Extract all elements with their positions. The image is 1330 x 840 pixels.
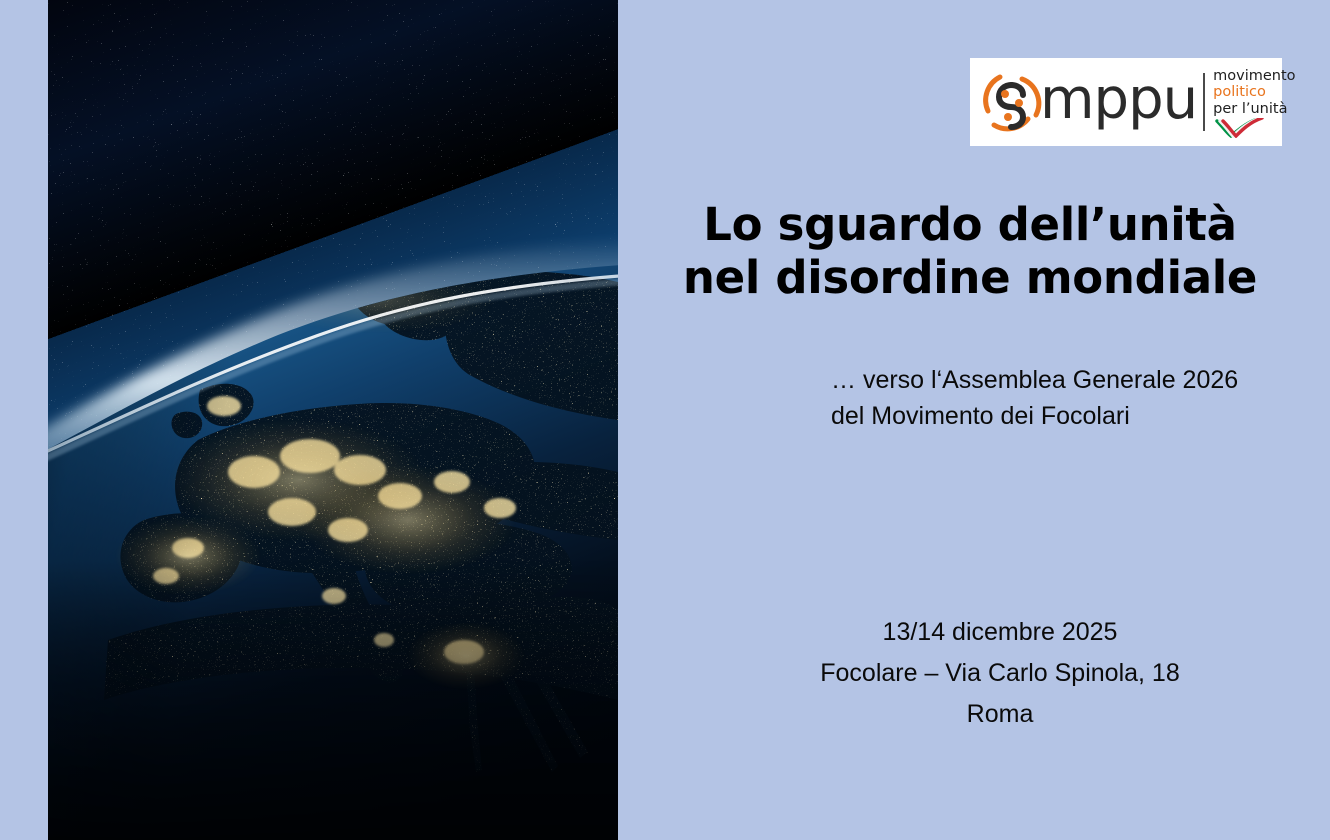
event-date: 13/14 dicembre 2025 — [700, 612, 1300, 653]
title-line-2: nel disordine mondiale — [640, 251, 1300, 304]
subtitle-line-1: … verso l‘Assemblea Generale 2026 — [831, 362, 1301, 398]
mppu-tagline: movimento politico per l’unità — [1213, 66, 1295, 139]
slide-title: Lo sguardo dell’unità nel disordine mond… — [640, 198, 1300, 304]
tagline-line-3: per l’unità — [1213, 101, 1295, 118]
event-details: 13/14 dicembre 2025 Focolare – Via Carlo… — [700, 612, 1300, 735]
tagline-line-2: politico — [1213, 84, 1295, 101]
mppu-logo: mppu movimento politico per l’unità — [970, 58, 1282, 146]
mppu-wordmark: mppu — [1040, 72, 1197, 128]
earth-image-panel — [48, 0, 618, 840]
italian-flag-swoosh-icon — [1213, 118, 1267, 138]
presentation-slide: mppu movimento politico per l’unità Lo s… — [0, 0, 1330, 840]
logo-divider — [1203, 73, 1205, 131]
title-line-1: Lo sguardo dell’unità — [640, 198, 1300, 251]
event-venue: Focolare – Via Carlo Spinola, 18 — [700, 653, 1300, 694]
slide-subtitle: … verso l‘Assemblea Generale 2026 del Mo… — [831, 362, 1301, 434]
tagline-line-1: movimento — [1213, 68, 1295, 85]
subtitle-line-2: del Movimento dei Focolari — [831, 398, 1301, 434]
earth-from-space-image — [48, 0, 618, 840]
event-city: Roma — [700, 694, 1300, 735]
